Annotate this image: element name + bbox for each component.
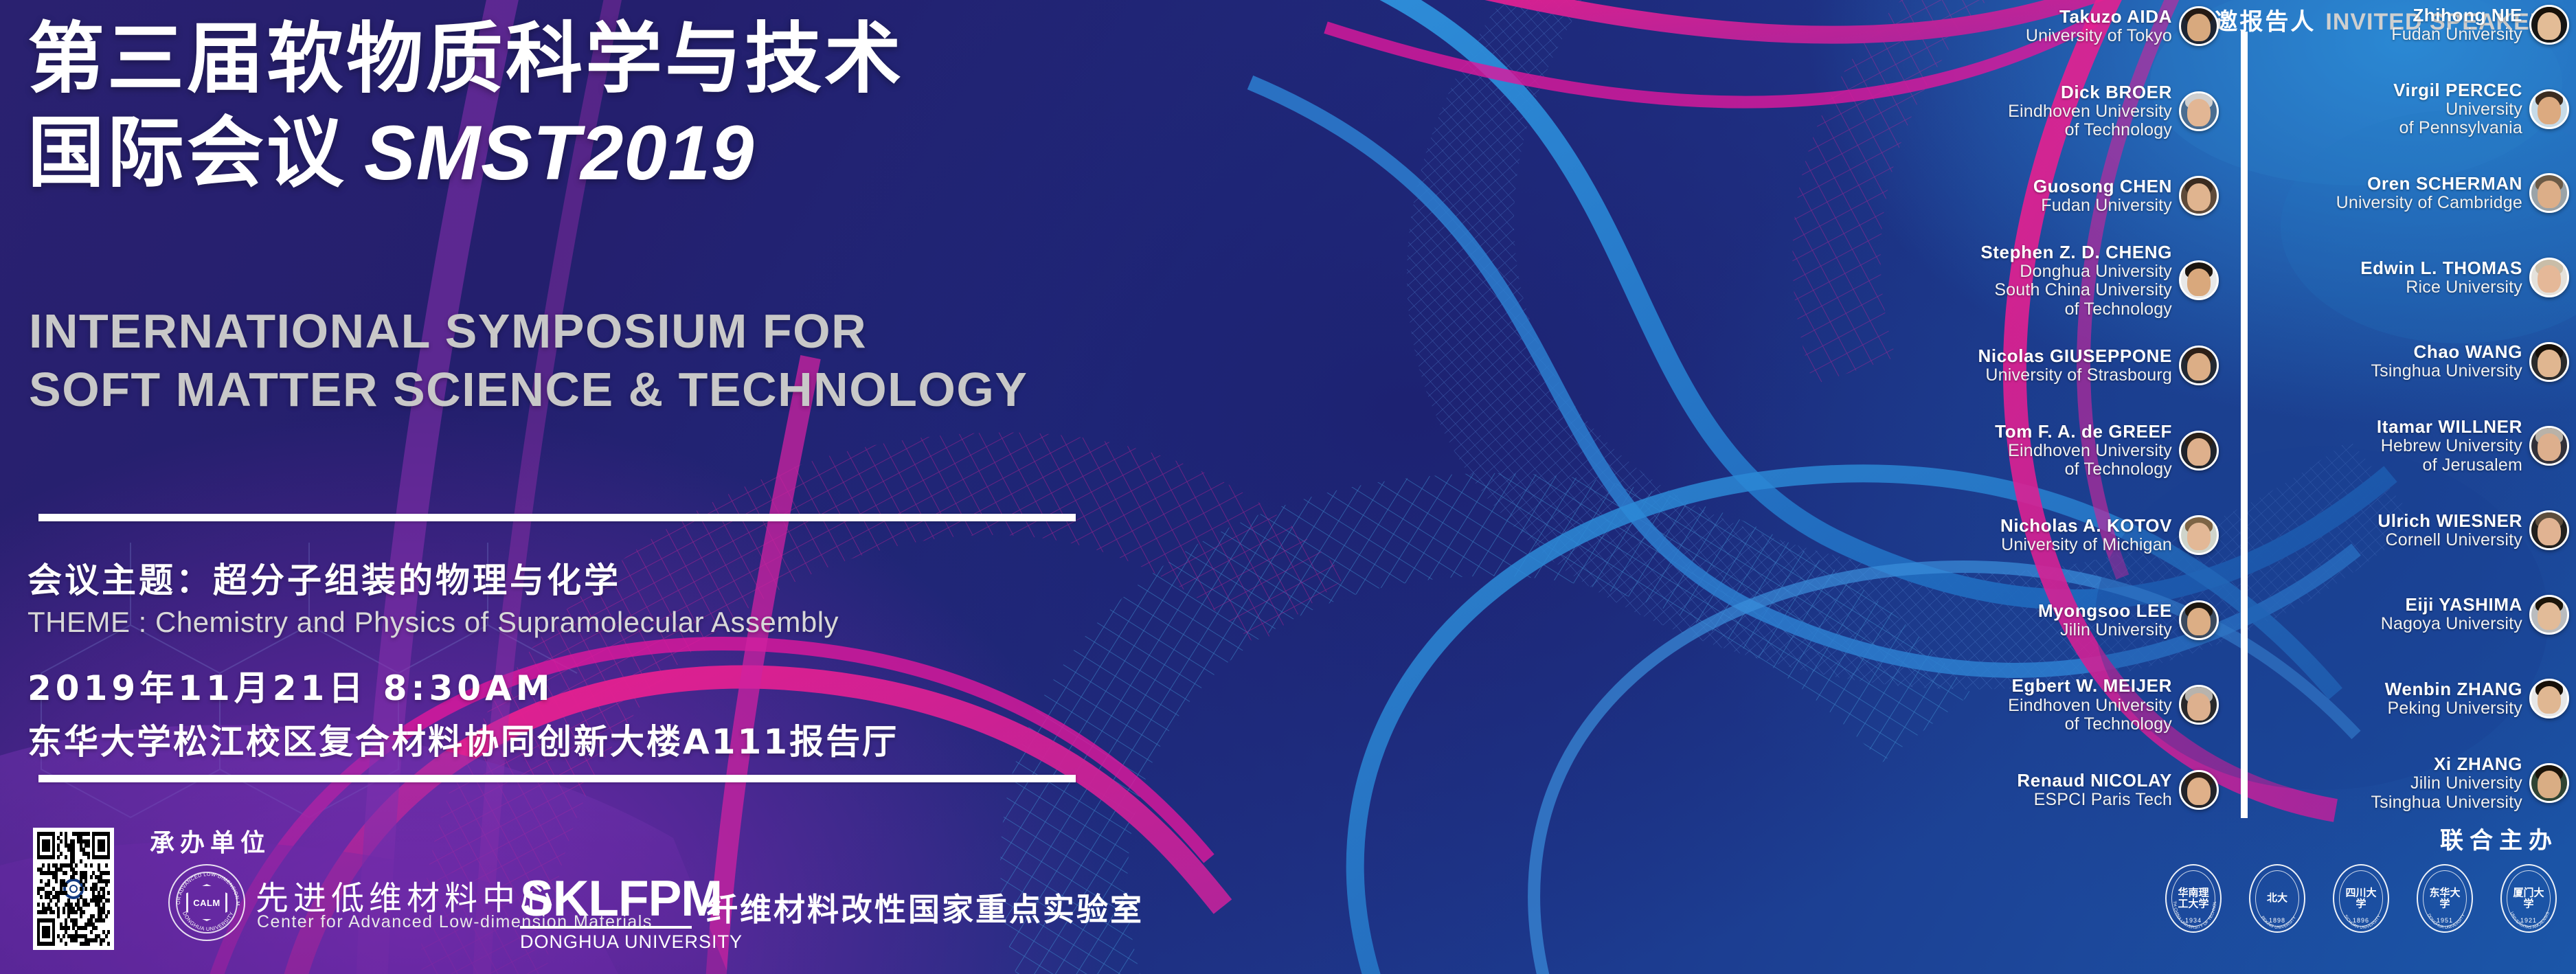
qr-module <box>95 926 98 930</box>
avatar-face <box>2187 608 2211 635</box>
speaker-name: Myongsoo LEE <box>2038 601 2172 621</box>
speaker-affiliation: of Technology <box>1980 300 2172 319</box>
speaker-name: Xi ZHANG <box>2371 754 2522 774</box>
speaker-avatar <box>2179 431 2219 471</box>
qr-module <box>100 942 102 946</box>
seal-glyph: 厦门大学 <box>2510 887 2547 909</box>
speaker-affiliation: of Technology <box>1995 460 2172 479</box>
avatar-face <box>2187 183 2211 211</box>
subtitle-en: INTERNATIONAL SYMPOSIUM FOR SOFT MATTER … <box>29 302 1028 420</box>
speaker-entry: Chao WANGTsinghua University <box>2267 342 2569 382</box>
speaker-name: Takuzo AIDA <box>2026 7 2172 27</box>
speaker-name: Stephen Z. D. CHENG <box>1980 242 2172 262</box>
event-datetime: 2019年11月21日 8:30AM <box>27 661 554 710</box>
speaker-name: Virgil PERCEC <box>2393 80 2522 100</box>
qr-module <box>107 898 110 903</box>
qr-module <box>47 934 50 938</box>
speaker-entry: Stephen Z. D. CHENGDonghua UniversitySou… <box>1944 242 2219 319</box>
speaker-affiliation: of Technology <box>2008 121 2172 140</box>
speaker-text: Renaud NICOLAYESPCI Paris Tech <box>2017 771 2172 810</box>
qr-module <box>60 938 63 942</box>
speaker-name: Egbert W. MEIJER <box>2008 676 2172 696</box>
speaker-entry: Ulrich WIESNERCornell University <box>2267 510 2569 550</box>
qr-module <box>72 875 75 879</box>
speaker-avatar <box>2529 679 2569 718</box>
avatar-face <box>2538 518 2561 545</box>
calm-seal-word: CALM <box>193 898 221 908</box>
university-seal: UNIVERSITAS AMOIENSIS厦门大学1921 <box>2500 864 2557 933</box>
qr-module <box>65 891 67 895</box>
qr-module <box>65 855 67 859</box>
seal-glyph: 四川大学 <box>2342 887 2380 909</box>
speaker-text: Takuzo AIDAUniversity of Tokyo <box>2026 7 2172 46</box>
qr-module <box>75 910 78 914</box>
speaker-text: Wenbin ZHANGPeking University <box>2385 679 2522 718</box>
avatar-face <box>2187 523 2211 550</box>
speaker-name: Tom F. A. de GREEF <box>1995 422 2172 442</box>
qr-module <box>80 859 82 863</box>
speaker-avatar <box>2529 5 2569 45</box>
conference-poster: 第三届软物质科学与技术 国际会议SMST2019 INTERNATIONAL S… <box>0 0 2576 974</box>
qr-module <box>105 914 108 918</box>
qr-module <box>87 903 90 907</box>
speaker-name: Chao WANG <box>2371 342 2522 362</box>
qr-module <box>37 903 40 907</box>
qr-module <box>84 879 87 883</box>
qr-module <box>65 883 67 887</box>
qr-module <box>90 863 93 868</box>
speaker-affiliation: Hebrew University <box>2377 437 2522 456</box>
speaker-text: Eiji YASHIMANagoya University <box>2381 595 2522 634</box>
speaker-entry: Itamar WILLNERHebrew Universityof Jerusa… <box>2267 417 2569 475</box>
speaker-affiliation: University of Strasbourg <box>1978 366 2172 385</box>
qr-module <box>87 832 90 836</box>
speaker-avatar <box>2529 595 2569 635</box>
speaker-entry: Eiji YASHIMANagoya University <box>2267 595 2569 635</box>
qr-module <box>55 879 58 883</box>
speaker-avatar <box>2179 91 2219 131</box>
speaker-name: Nicholas A. KOTOV <box>2000 516 2172 536</box>
speaker-avatar <box>2179 600 2219 640</box>
speaker-affiliation: Jilin University <box>2371 774 2522 793</box>
avatar-face <box>2538 771 2561 798</box>
speaker-affiliation: ESPCI Paris Tech <box>2017 791 2172 810</box>
speaker-affiliation: of Technology <box>2008 715 2172 734</box>
speaker-name: Itamar WILLNER <box>2377 417 2522 437</box>
subtitle-en-line1: INTERNATIONAL SYMPOSIUM FOR <box>29 302 1028 361</box>
qr-module <box>75 938 78 942</box>
speaker-affiliation: Eindhoven University <box>2008 102 2172 122</box>
title-cn-line2: 国际会议 <box>27 109 346 198</box>
speaker-avatar <box>2529 426 2569 466</box>
speaker-affiliation: of Pennsylvania <box>2393 119 2522 138</box>
speaker-text: Tom F. A. de GREEFEindhoven Universityof… <box>1995 422 2172 479</box>
university-seal: SOUTH CHINA UNIVERSITY OF TECHNOLOGY华南理工… <box>2165 864 2222 933</box>
host-label: 承办单位 <box>150 823 271 859</box>
avatar-face <box>2187 693 2211 721</box>
speaker-avatar <box>2529 258 2569 297</box>
speaker-text: Zhihong NIEFudan University <box>2391 5 2522 45</box>
qr-module <box>60 852 63 856</box>
speaker-affiliation: University <box>2393 100 2522 120</box>
sklfpm-logo: SKLFPM <box>520 874 722 924</box>
qr-module <box>90 875 93 879</box>
speaker-affiliation: Eindhoven University <box>2008 696 2172 716</box>
qr-module <box>60 832 63 836</box>
speaker-avatar <box>2529 173 2569 213</box>
qr-module <box>107 930 110 934</box>
speaker-entry: Renaud NICOLAYESPCI Paris Tech <box>1944 770 2219 810</box>
speaker-name: Zhihong NIE <box>2391 5 2522 25</box>
qr-module <box>80 914 82 918</box>
speaker-entry: Guosong CHENFudan University <box>1944 176 2219 216</box>
qr-module <box>84 863 87 868</box>
qr-module <box>65 871 67 875</box>
avatar-face <box>2187 14 2211 41</box>
qr-module <box>52 910 55 914</box>
speaker-name: Nicolas GIUSEPPONE <box>1978 346 2172 366</box>
avatar-face <box>2187 269 2211 296</box>
speaker-text: Stephen Z. D. CHENGDonghua UniversitySou… <box>1980 242 2172 319</box>
left-content: 第三届软物质科学与技术 国际会议SMST2019 INTERNATIONAL S… <box>0 0 1374 974</box>
speaker-name: Wenbin ZHANG <box>2385 679 2522 699</box>
speaker-entry: Wenbin ZHANGPeking University <box>2267 679 2569 718</box>
co-organizers-label: 联合主办 <box>2440 822 2558 855</box>
speaker-affiliation: Tsinghua University <box>2371 793 2522 813</box>
speaker-affiliation: University of Michigan <box>2000 536 2172 555</box>
speaker-avatar <box>2179 346 2219 385</box>
lab-name-cn: 纤维材料改性国家重点实验室 <box>706 885 1144 930</box>
speaker-text: Itamar WILLNERHebrew Universityof Jerusa… <box>2377 417 2522 475</box>
qr-module <box>107 855 110 859</box>
speaker-affiliation: Jilin University <box>2038 621 2172 640</box>
speaker-entry: Dick BROEREindhoven Universityof Technol… <box>1944 82 2219 140</box>
qr-module <box>63 934 65 938</box>
speaker-text: Myongsoo LEEJilin University <box>2038 601 2172 640</box>
qr-module <box>95 938 98 942</box>
avatar-face <box>2538 686 2561 714</box>
speaker-entry: Oren SCHERMANUniversity of Cambridge <box>2267 173 2569 213</box>
qr-module <box>107 871 110 875</box>
seal-glyph: 北大 <box>2259 893 2296 904</box>
university-seal: DONGHUA UNIVERSITY东华大学1951 <box>2417 864 2473 933</box>
speaker-entry: Takuzo AIDAUniversity of Tokyo <box>1944 6 2219 46</box>
speaker-avatar <box>2179 685 2219 725</box>
avatar-face <box>2187 778 2211 805</box>
speaker-affiliation: University of Tokyo <box>2026 27 2172 46</box>
divider-bottom <box>38 775 1076 782</box>
speaker-avatar <box>2529 89 2569 129</box>
qr-module <box>52 942 55 946</box>
qr-module <box>105 863 108 868</box>
qr-module <box>87 942 90 946</box>
speaker-entry: Zhihong NIEFudan University <box>2267 5 2569 45</box>
qr-module <box>52 855 55 859</box>
qr-module <box>80 887 82 891</box>
speaker-avatar <box>2529 763 2569 803</box>
qr-module <box>65 942 67 946</box>
qr-module <box>60 839 63 843</box>
speaker-name: Eiji YASHIMA <box>2381 595 2522 615</box>
speaker-text: Chao WANGTsinghua University <box>2371 342 2522 381</box>
university-seal: SICHUAN UNIVERSITY四川大学1896 <box>2333 864 2389 933</box>
speaker-affiliation: University of Cambridge <box>2336 194 2522 213</box>
speaker-name: Renaud NICOLAY <box>2017 771 2172 791</box>
sklfpm-underline <box>520 926 692 929</box>
seal-year: 1898 <box>2269 917 2285 924</box>
speaker-avatar <box>2179 6 2219 46</box>
speaker-avatar <box>2179 176 2219 216</box>
page-title: 第三届软物质科学与技术 国际会议SMST2019 <box>27 12 904 200</box>
speaker-entry: Xi ZHANGJilin UniversityTsinghua Univers… <box>2267 754 2569 812</box>
qr-module <box>107 879 110 883</box>
qr-module <box>67 926 70 930</box>
qr-module <box>57 914 60 918</box>
qr-module <box>107 891 110 895</box>
qr-module <box>75 863 78 868</box>
speaker-name: Dick BROER <box>2008 82 2172 102</box>
speaker-name: Edwin L. THOMAS <box>2360 258 2522 278</box>
speaker-text: Ulrich WIESNERCornell University <box>2377 511 2522 550</box>
speaker-avatar <box>2529 342 2569 382</box>
speaker-text: Egbert W. MEIJEREindhoven Universityof T… <box>2008 676 2172 734</box>
avatar-face <box>2538 602 2561 630</box>
speaker-text: Oren SCHERMANUniversity of Cambridge <box>2336 174 2522 213</box>
qr-module <box>47 883 50 887</box>
speaker-text: Dick BROEREindhoven Universityof Technol… <box>2008 82 2172 140</box>
speaker-name: Guosong CHEN <box>2033 177 2172 196</box>
qr-module <box>82 910 85 914</box>
speaker-avatar <box>2179 260 2219 300</box>
qr-module <box>107 942 110 946</box>
speakers-column-divider <box>2241 32 2248 818</box>
avatar-face <box>2538 97 2561 124</box>
qr-module <box>105 934 108 938</box>
speaker-entry: Tom F. A. de GREEFEindhoven Universityof… <box>1944 422 2219 479</box>
speaker-affiliation: Fudan University <box>2391 25 2522 45</box>
qr-module <box>45 910 47 914</box>
seal-year: 1951 <box>2437 917 2453 924</box>
qr-module <box>105 883 108 887</box>
qr-module <box>90 930 93 934</box>
qr-module <box>87 855 90 859</box>
seal-glyph: 东华大学 <box>2426 887 2463 909</box>
calm-seal-logo: CENTER FOR ADVANCED LOW-DIMENSION MATERI… <box>168 864 245 941</box>
speaker-avatar <box>2179 515 2219 555</box>
qr-module <box>107 910 110 914</box>
speaker-text: Virgil PERCECUniversityof Pennsylvania <box>2393 80 2522 138</box>
speaker-affiliation: Peking University <box>2385 699 2522 718</box>
speaker-entry: Nicholas A. KOTOVUniversity of Michigan <box>1944 515 2219 555</box>
avatar-face <box>2187 99 2211 126</box>
theme-en: THEME : Chemistry and Physics of Supramo… <box>27 606 839 639</box>
speaker-affiliation: Cornell University <box>2377 531 2522 550</box>
divider-top <box>38 514 1076 521</box>
avatar-face <box>2538 350 2561 377</box>
speaker-name: Oren SCHERMAN <box>2336 174 2522 194</box>
qr-module <box>102 848 105 852</box>
speaker-text: Guosong CHENFudan University <box>2033 177 2172 216</box>
qr-module <box>40 895 43 899</box>
qr-module <box>84 887 87 891</box>
sklfpm-subtitle: DONGHUA UNIVERSITY <box>520 931 743 953</box>
speaker-text: Nicholas A. KOTOVUniversity of Michigan <box>2000 516 2172 555</box>
seal-year: 1896 <box>2353 917 2369 924</box>
avatar-face <box>2187 438 2211 466</box>
title-cn-line1: 第三届软物质科学与技术 <box>27 14 904 104</box>
qr-module <box>87 843 90 848</box>
qr-module <box>47 848 50 852</box>
qr-module <box>49 898 52 903</box>
qr-module <box>75 871 78 875</box>
speaker-affiliation: Tsinghua University <box>2371 362 2522 381</box>
qr-code[interactable] <box>33 828 114 950</box>
speaker-avatar <box>2529 510 2569 550</box>
event-venue: 东华大学松江校区复合材料协同创新大楼A111报告厅 <box>27 714 899 764</box>
speaker-entry: Nicolas GIUSEPPONEUniversity of Strasbou… <box>1944 346 2219 385</box>
acronym: SMST2019 <box>364 110 754 196</box>
qr-module <box>84 926 87 930</box>
avatar-face <box>2538 12 2561 40</box>
theme-cn: 会议主题：超分子组装的物理与化学 <box>27 553 621 602</box>
seal-year: 1921 <box>2520 917 2537 924</box>
speaker-entry: Egbert W. MEIJEREindhoven Universityof T… <box>1944 676 2219 734</box>
speaker-text: Xi ZHANGJilin UniversityTsinghua Univers… <box>2371 754 2522 812</box>
speaker-entry: Virgil PERCECUniversityof Pennsylvania <box>2267 80 2569 138</box>
qr-module <box>63 910 65 914</box>
qr-module <box>40 879 43 883</box>
speaker-affiliation: Eindhoven University <box>1995 442 2172 461</box>
speaker-text: Nicolas GIUSEPPONEUniversity of Strasbou… <box>1978 346 2172 385</box>
seal-glyph: 华南理工大学 <box>2175 887 2212 909</box>
speaker-affiliation: South China University <box>1980 281 2172 300</box>
qr-module <box>42 863 45 868</box>
qr-module <box>102 918 105 922</box>
seal-year: 1934 <box>2185 917 2202 924</box>
qr-module <box>57 898 60 903</box>
avatar-face <box>2187 353 2211 381</box>
co-organizer-seals: SOUTH CHINA UNIVERSITY OF TECHNOLOGY华南理工… <box>2165 864 2557 933</box>
speaker-name: Ulrich WIESNER <box>2377 511 2522 531</box>
speaker-entry: Myongsoo LEEJilin University <box>1944 600 2219 640</box>
avatar-face <box>2538 265 2561 293</box>
speaker-avatar <box>2179 770 2219 810</box>
university-seal: PEKING UNIVERSITY北大1898 <box>2249 864 2305 933</box>
speaker-entry: Edwin L. THOMASRice University <box>2267 258 2569 297</box>
speaker-affiliation: Rice University <box>2360 278 2522 297</box>
qr-module <box>57 855 60 859</box>
avatar-face <box>2538 181 2561 208</box>
speaker-affiliation: Fudan University <box>2033 196 2172 216</box>
speaker-affiliation: Donghua University <box>1980 262 2172 282</box>
speaker-affiliation: of Jerusalem <box>2377 456 2522 475</box>
subtitle-en-line2: SOFT MATTER SCIENCE & TECHNOLOGY <box>29 361 1028 419</box>
avatar-face <box>2538 433 2561 461</box>
qr-module <box>102 938 105 942</box>
speaker-text: Edwin L. THOMASRice University <box>2360 258 2522 297</box>
speaker-affiliation: Nagoya University <box>2381 615 2522 634</box>
